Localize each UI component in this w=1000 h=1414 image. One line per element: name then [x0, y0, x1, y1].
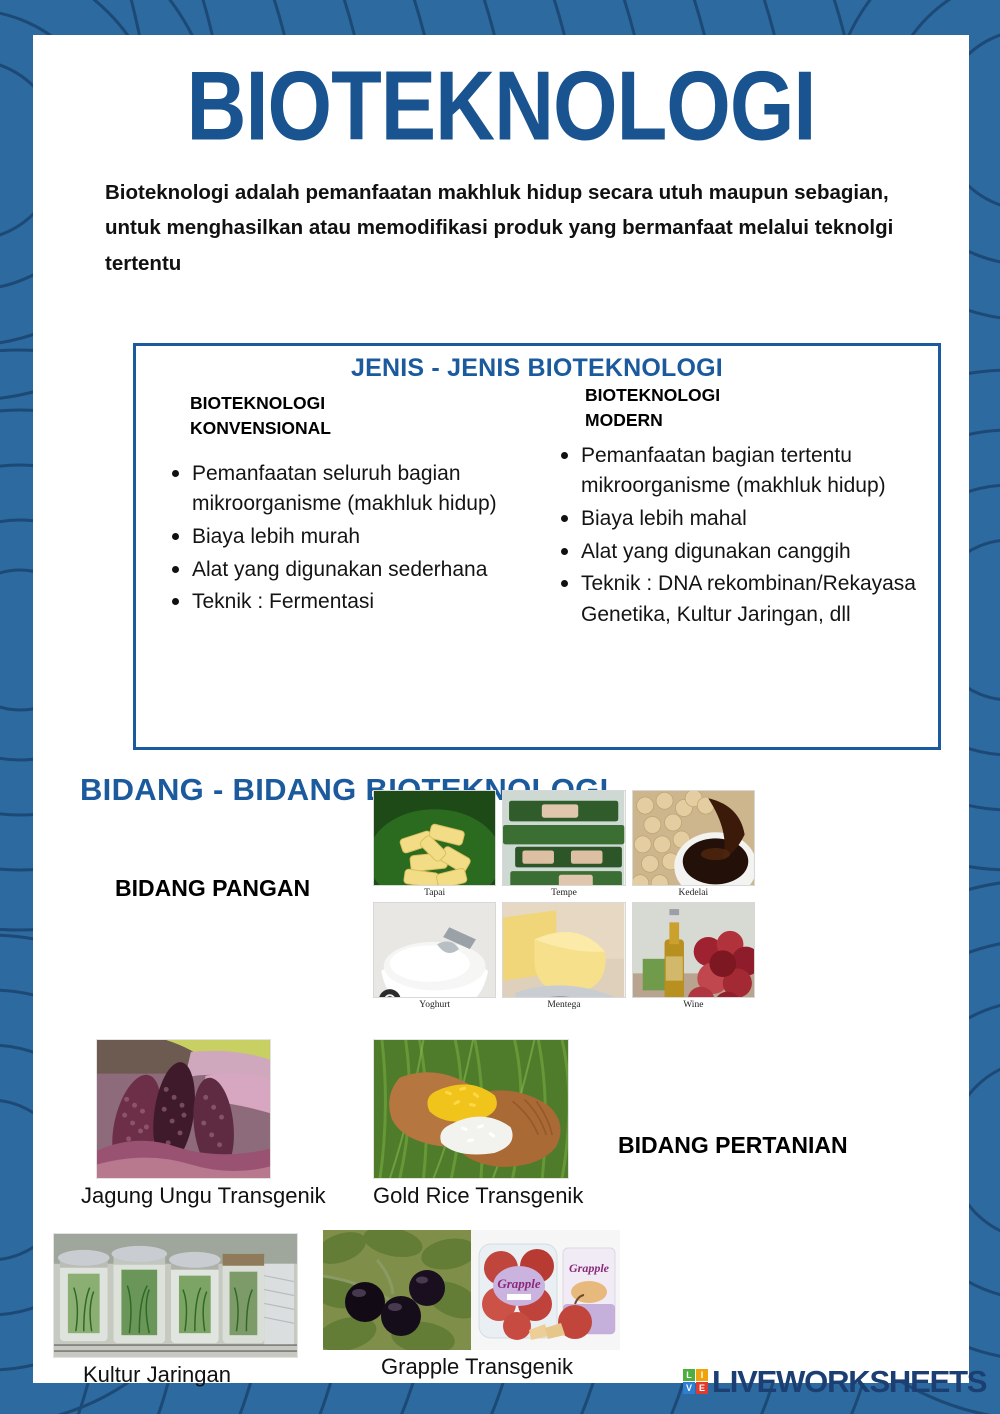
tapai-caption: Tapai — [373, 886, 496, 898]
page-title: BIOTEKNOLOGI — [33, 57, 969, 155]
liveworksheets-wordmark: LIVEWORKSHEETS — [712, 1366, 986, 1397]
list-item: Alat yang digunakan canggih — [559, 537, 936, 568]
list-item: Pemanfaatan seluruh bagian mikroorganism… — [170, 459, 537, 520]
column-konvensional: BIOTEKNOLOGI KONVENSIONAL Pemanfaatan se… — [138, 383, 537, 633]
yoghurt-caption: Yoghurt — [373, 998, 496, 1010]
pangan-item-mentega: Mentega — [502, 902, 625, 1010]
kedelai-image — [632, 790, 755, 886]
liveworksheets-tiles-icon: L I V E — [683, 1369, 708, 1394]
column-konvensional-title: BIOTEKNOLOGI KONVENSIONAL — [138, 383, 537, 441]
jagung-ungu-caption: Jagung Ungu Transgenik — [81, 1179, 326, 1209]
kultur-jaringan-caption: Kultur Jaringan — [83, 1358, 298, 1388]
mentega-caption: Mentega — [502, 998, 625, 1010]
pangan-item-kedelai: Kedelai — [632, 790, 755, 898]
grapple-package-image: Grapple Grapple — [471, 1230, 620, 1350]
pangan-image-grid: Tapai — [373, 790, 755, 1010]
jenis-heading: JENIS - JENIS BIOTEKNOLOGI — [136, 354, 938, 383]
tile-l: L — [683, 1369, 695, 1381]
tempe-image — [502, 790, 625, 886]
pangan-item-tempe: Tempe — [502, 790, 625, 898]
photo-jagung-ungu: Jagung Ungu Transgenik — [96, 1039, 326, 1209]
kedelai-caption: Kedelai — [632, 886, 755, 898]
label-bidang-pertanian: BIDANG PERTANIAN — [618, 1132, 848, 1159]
label-bidang-pangan: BIDANG PANGAN — [115, 875, 310, 902]
list-item: Teknik : Fermentasi — [170, 587, 537, 618]
tapai-image — [373, 790, 496, 886]
wine-image: 507 — [632, 902, 755, 998]
intro-paragraph: Bioteknologi adalah pemanfaatan makhluk … — [105, 175, 905, 281]
svg-text:Grapple: Grapple — [569, 1261, 610, 1275]
grapple-image-pair: Grapple Grapple — [323, 1230, 620, 1350]
tile-v: V — [683, 1382, 695, 1394]
photo-kultur-jaringan: Kultur Jaringan — [53, 1233, 298, 1388]
col-title-line2: MODERN — [585, 408, 936, 433]
pangan-item-tapai: Tapai — [373, 790, 496, 898]
pangan-item-yoghurt: Yoghurt — [373, 902, 496, 1010]
black-tomato-image — [323, 1230, 471, 1350]
tile-i: I — [696, 1369, 708, 1381]
column-modern-title: BIOTEKNOLOGI MODERN — [537, 383, 936, 433]
list-item: Pemanfaatan bagian tertentu mikroorganis… — [559, 441, 936, 502]
worksheet-card: BIOTEKNOLOGI Bioteknologi adalah pemanfa… — [33, 35, 969, 1383]
mentega-image — [502, 902, 625, 998]
modern-list: Pemanfaatan bagian tertentu mikroorganis… — [537, 441, 936, 631]
wine-caption: Wine — [632, 998, 755, 1010]
photo-gold-rice: Gold Rice Transgenik — [373, 1039, 583, 1209]
col-title-line2: KONVENSIONAL — [190, 416, 537, 441]
gold-rice-image — [373, 1039, 569, 1179]
kultur-jaringan-image — [53, 1233, 298, 1358]
liveworksheets-logo: L I V E LIVEWORKSHEETS — [683, 1366, 986, 1397]
grapple-caption: Grapple Transgenik — [381, 1350, 620, 1380]
konvensional-list: Pemanfaatan seluruh bagian mikroorganism… — [138, 459, 537, 618]
yoghurt-image — [373, 902, 496, 998]
svg-text:Grapple: Grapple — [497, 1276, 541, 1291]
gold-rice-caption: Gold Rice Transgenik — [373, 1179, 583, 1209]
column-modern: BIOTEKNOLOGI MODERN Pemanfaatan bagian t… — [537, 383, 936, 633]
col-title-line1: BIOTEKNOLOGI — [585, 383, 936, 408]
list-item: Teknik : DNA rekombinan/Rekayasa Genetik… — [559, 569, 936, 630]
list-item: Alat yang digunakan sederhana — [170, 555, 537, 586]
photo-grapple: Grapple Grapple Grapple Transgenik — [323, 1230, 620, 1380]
jagung-ungu-image — [96, 1039, 271, 1179]
jenis-bioteknologi-box: JENIS - JENIS BIOTEKNOLOGI BIOTEKNOLOGI … — [133, 343, 941, 750]
tile-e: E — [696, 1382, 708, 1394]
col-title-line1: BIOTEKNOLOGI — [190, 391, 537, 416]
list-item: Biaya lebih mahal — [559, 504, 936, 535]
list-item: Biaya lebih murah — [170, 522, 537, 553]
pangan-item-wine: 507 Wine — [632, 902, 755, 1010]
tempe-caption: Tempe — [502, 886, 625, 898]
